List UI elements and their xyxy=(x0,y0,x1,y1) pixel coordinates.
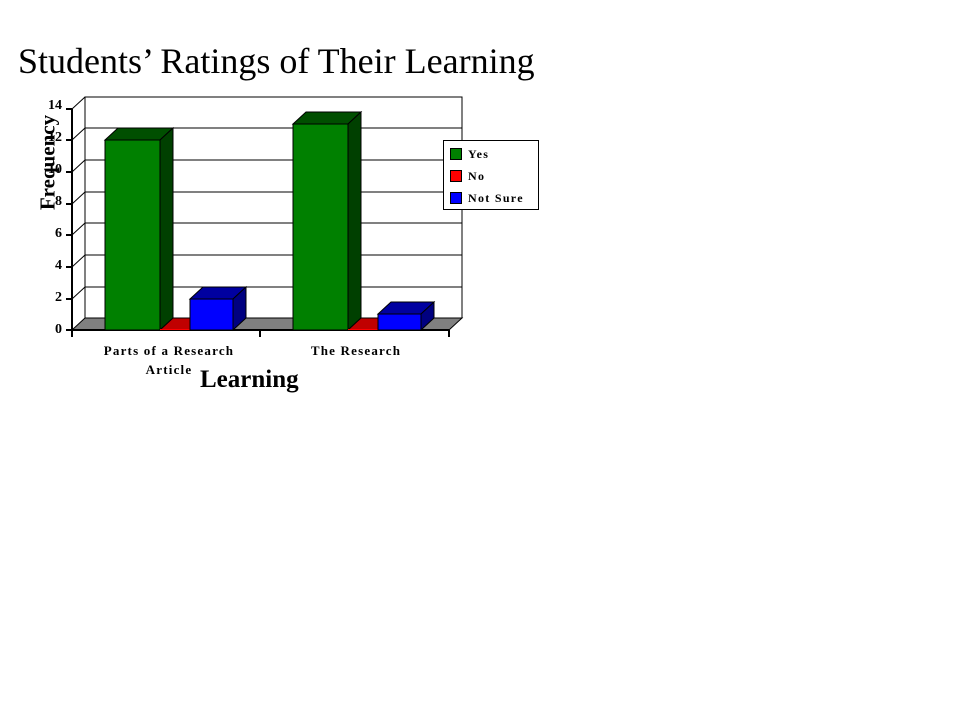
legend-label-not-sure: Not Sure xyxy=(468,191,524,206)
x-category-label-2-line-1: The Research xyxy=(262,341,450,360)
bar-group-1-not-sure xyxy=(190,287,246,330)
legend-label-no: No xyxy=(468,169,485,184)
x-axis-title: Learning xyxy=(200,366,299,394)
x-category-label-1-line-1: Parts of a Research xyxy=(78,341,260,360)
x-category-label-2: The Research xyxy=(262,341,450,360)
bar-front-face xyxy=(293,124,348,330)
bar-front-face xyxy=(378,314,421,330)
tick-connector-2 xyxy=(72,287,85,299)
chart-legend: Yes No Not Sure xyxy=(443,140,539,210)
bar-group-1-yes xyxy=(105,128,173,330)
tick-connector-4 xyxy=(72,255,85,267)
bar-group-2-yes xyxy=(293,112,361,330)
chart-container: Students’ Ratings of Their Learning Freq… xyxy=(0,0,959,719)
bar-front-face xyxy=(348,329,378,330)
tick-connector-6 xyxy=(72,223,85,235)
tick-connector-10 xyxy=(72,160,85,172)
tick-connector-8 xyxy=(72,192,85,204)
bar-front-face xyxy=(105,140,160,330)
legend-item-yes: Yes xyxy=(450,146,489,162)
legend-label-yes: Yes xyxy=(468,147,489,162)
legend-swatch-no-icon xyxy=(450,170,462,182)
axis-depth-edge-top xyxy=(72,97,85,109)
legend-item-not-sure: Not Sure xyxy=(450,190,524,206)
bar-side-face xyxy=(160,128,173,330)
bar-group-2-not-sure xyxy=(378,302,434,330)
tick-connector-12 xyxy=(72,128,85,140)
legend-item-no: No xyxy=(450,168,485,184)
bar-side-face xyxy=(348,112,361,330)
bar-front-face xyxy=(190,299,233,330)
legend-swatch-yes-icon xyxy=(450,148,462,160)
legend-swatch-not-sure-icon xyxy=(450,192,462,204)
bar-front-face xyxy=(160,329,190,330)
